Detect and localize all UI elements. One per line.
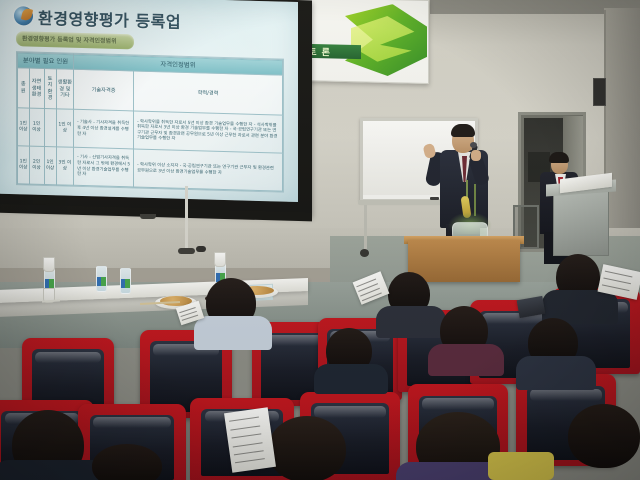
table-subheader-total: 총원: [18, 68, 30, 108]
attendee-shoulders: [516, 356, 596, 390]
cell-nature: 1인 이상: [29, 108, 44, 146]
lectern: [553, 190, 609, 256]
slide-table: 분야별 필요 인원 자격인정범위 총원 자연생태환경 토지환경 생활환경 및 기…: [16, 51, 284, 192]
microphone-head-icon: [470, 142, 477, 148]
stage-table: [408, 240, 520, 282]
whiteboard-marker-icon: [430, 197, 439, 200]
cell-living: 1인 이상: [56, 109, 73, 147]
slide-title: 환경영향평가 등록업: [38, 5, 288, 36]
table-subheader-living: 생활환경 및 기타: [56, 69, 73, 110]
attendee-head: [92, 444, 162, 480]
presentation-slide: 환경영향평가 등록업 환경영향평가 등록업 및 자격인정범위 분야별 필요 인원…: [2, 0, 298, 202]
table-subheader-career: 학력/경력: [134, 71, 283, 115]
table-subheader-certificate: 기술자격증: [74, 69, 134, 111]
projection-screen-foot: [178, 248, 195, 254]
projection-screen-foot-2: [196, 246, 206, 252]
attendee-shoulders: [314, 364, 388, 394]
paper-cup: [214, 252, 226, 267]
table-row: 1인 이상 2인 이상 1인 이상 3인 이상 - 기사 - 산업기사자격을 취…: [18, 146, 283, 191]
cell-experience: - 학사학위를 취득한 자로서 5년 이상 환경 기술업무를 수행한 자 - 석…: [134, 111, 283, 153]
table-group-header-personnel: 분야별 필요 인원: [18, 53, 74, 70]
whiteboard-caster: [360, 249, 369, 257]
wall-corner: [604, 8, 640, 258]
table-subheader-land: 토지환경: [44, 69, 56, 109]
whiteboard-leg-left: [364, 205, 367, 251]
auditorium-photo: 수회 구 전 학 토 론 ...급 환경공학과: [0, 0, 640, 480]
attendee-scarf: [488, 452, 554, 480]
speaker-right-hand: [471, 150, 481, 161]
projection-screen-pull-handle[interactable]: [140, 214, 156, 219]
cell-land: 1인 이상: [44, 147, 56, 185]
table-subheader-nature: 자연생태환경: [29, 68, 44, 109]
cell-total: 1인 이상: [18, 146, 30, 184]
cell-nature: 2인 이상: [29, 146, 44, 184]
cell-living: 3인 이상: [56, 147, 73, 185]
attendee-shoulders: [376, 306, 446, 338]
attendee-head: [268, 416, 346, 480]
projection-screen-frame: 환경영향평가 등록업 환경영향평가 등록업 및 자격인정범위 분야별 필요 인원…: [0, 0, 312, 216]
projection-screen-stand-pole: [185, 186, 188, 252]
water-bottle: [120, 268, 131, 294]
cell-qualification: - 기술사 - 기사자격을 취득한 후 4년 이상 환경설계를 수행한 자: [74, 110, 134, 149]
projection-screen-surface: 환경영향평가 등록업 환경영향평가 등록업 및 자격인정범위 분야별 필요 인원…: [0, 0, 298, 202]
handout: [224, 407, 276, 473]
cell-land: [44, 109, 56, 147]
attendee-head: [568, 404, 640, 468]
attendee-shoulders: [428, 344, 504, 376]
water-bottle: [96, 266, 107, 292]
cell-qualification: - 기사 - 산업기사자격을 취득한 자로서 그 밖에 환경에서 5년 이상 환…: [74, 147, 134, 187]
light-switch-icon: [593, 78, 606, 106]
man-at-lectern-hair: [549, 152, 569, 163]
paper-cup: [43, 257, 55, 272]
cell-experience: - 학사학위 이상 소지자 - 국·공립연구기관 또는 연구기관 근무자 및 환…: [134, 149, 283, 191]
cell-total: 1인 이상: [18, 108, 30, 146]
speaker-hair: [451, 124, 475, 137]
attendee-shoulders: [194, 316, 272, 350]
